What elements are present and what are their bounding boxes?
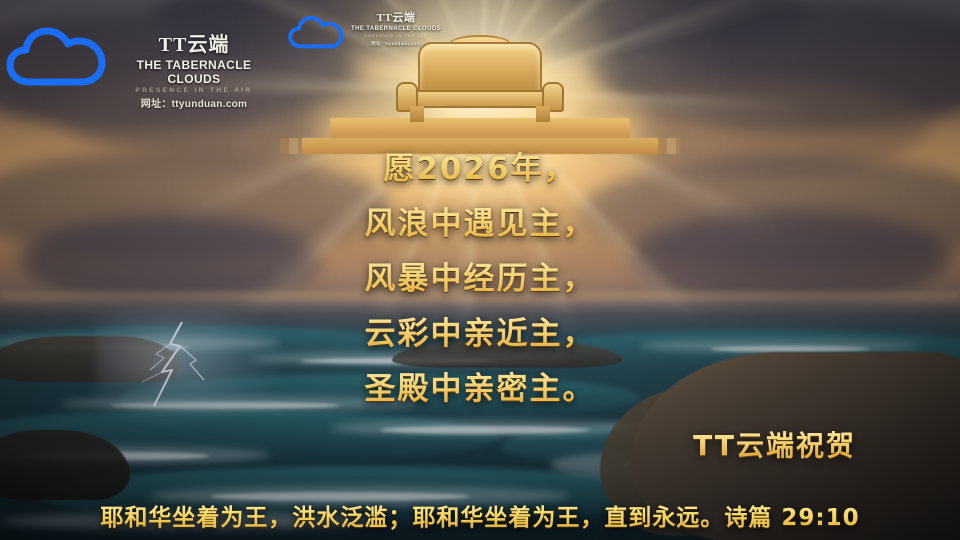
greeting-card-canvas: TT云端 THE TABERNACLE CLOUDS PRESENCE IN T…: [0, 0, 960, 540]
scripture-verse: 耶和华坐着为王，洪水泛滥；耶和华坐着为王，直到永远。诗篇 29:10: [0, 498, 960, 532]
brand-en-name: THE TABERNACLE CLOUDS: [350, 25, 442, 33]
brand-cn-name: TT云端: [350, 12, 442, 24]
brand-tagline: PRESENCE IN THE AIR: [114, 86, 274, 96]
cloud-outline-icon: [288, 12, 346, 54]
brand-logo-secondary[interactable]: TT云端 THE TABERNACLE CLOUDS PRESENCE IN T…: [288, 6, 438, 64]
brand-en-name: THE TABERNACLE CLOUDS: [114, 58, 274, 86]
signature-text: TT云端祝贺: [693, 424, 856, 464]
lightning-bolt-icon: [120, 320, 240, 410]
brand-url-label: 网址：ttyunduan.com: [350, 40, 442, 47]
brand-url-label: 网址：ttyunduan.com: [114, 98, 274, 112]
cloud-outline-icon: [6, 22, 110, 94]
brand-logo-primary-text: TT云端 THE TABERNACLE CLOUDS PRESENCE IN T…: [114, 34, 274, 112]
brand-logo-primary[interactable]: TT云端 THE TABERNACLE CLOUDS PRESENCE IN T…: [6, 14, 272, 104]
brand-logo-secondary-text: TT云端 THE TABERNACLE CLOUDS PRESENCE IN T…: [350, 12, 442, 47]
brand-cn-name: TT云端: [114, 34, 274, 56]
brand-tagline: PRESENCE IN THE AIR: [350, 33, 442, 39]
